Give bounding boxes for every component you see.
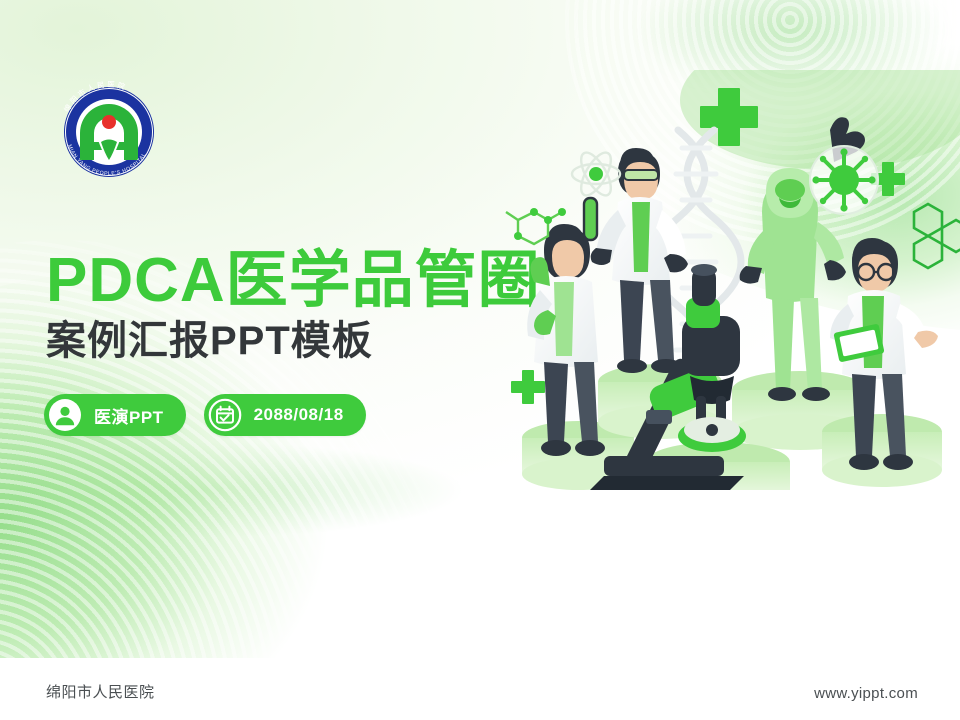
page-title: PDCA医学品管圈 [46, 248, 541, 313]
author-badge[interactable]: 医演PPT [44, 394, 186, 436]
calendar-icon [208, 398, 242, 432]
footer-organization: 绵阳市人民医院 [46, 681, 155, 702]
female-scientist-with-molecule [506, 208, 605, 456]
author-badge-label: 医演PPT [94, 403, 164, 428]
date-badge[interactable]: 2088/08/18 [204, 394, 366, 436]
hexagon-molecule [914, 204, 960, 268]
medical-research-team-illustration [500, 70, 960, 490]
presentation-title-slide: 绵阳市人民医院 MIAN YANG PEOPLE'S HOSPITAL PDCA… [0, 0, 960, 720]
hospital-logo: 绵阳市人民医院 MIAN YANG PEOPLE'S HOSPITAL [46, 80, 172, 180]
meta-badge-group: 医演PPT 2088/08/18 [44, 394, 366, 436]
date-badge-label: 2088/08/18 [254, 405, 344, 425]
user-icon [48, 398, 82, 432]
virus-particle [812, 148, 875, 211]
footer-website: www.yippt.com [814, 685, 918, 702]
page-subtitle: 案例汇报PPT模板 [46, 318, 373, 364]
